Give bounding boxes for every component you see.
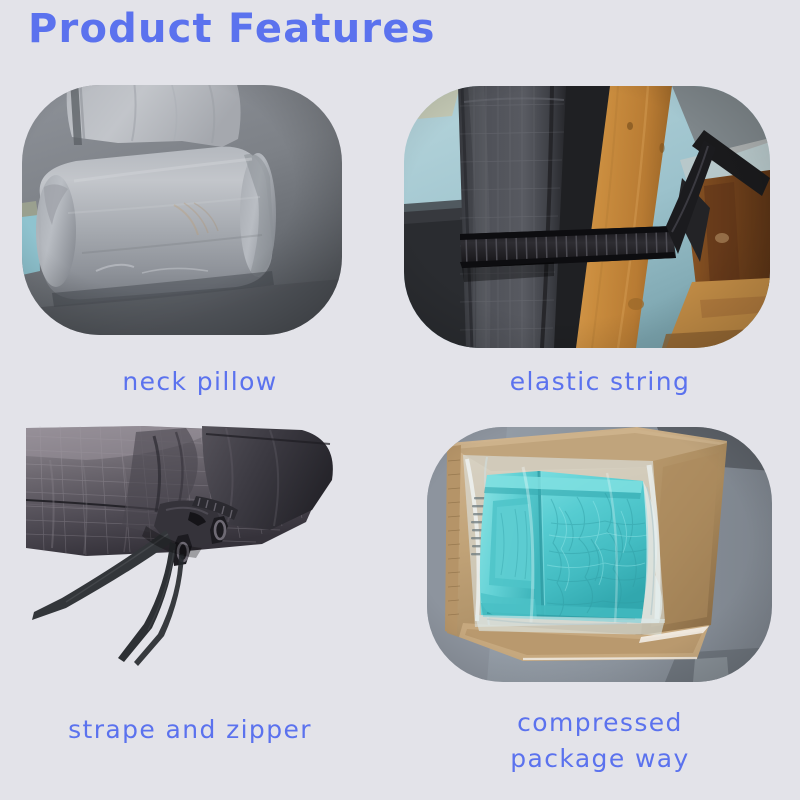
feature-caption-elastic-string: elastic string: [400, 364, 800, 400]
feature-image-compressed-package-way: [427, 427, 772, 682]
infographic-canvas: Product Features: [0, 0, 800, 800]
feature-image-elastic-string: [404, 86, 770, 348]
caption-line-1: compressed: [400, 705, 800, 741]
feature-caption-compressed-package-way: compressed package way: [400, 705, 800, 776]
feature-image-neck-pillow: [22, 85, 342, 335]
feature-caption-strape-and-zipper: strape and zipper: [0, 712, 380, 748]
page-title: Product Features: [28, 6, 436, 52]
feature-caption-neck-pillow: neck pillow: [0, 364, 400, 400]
caption-line-2: package way: [400, 741, 800, 777]
feature-image-strape-and-zipper: [26, 426, 356, 686]
